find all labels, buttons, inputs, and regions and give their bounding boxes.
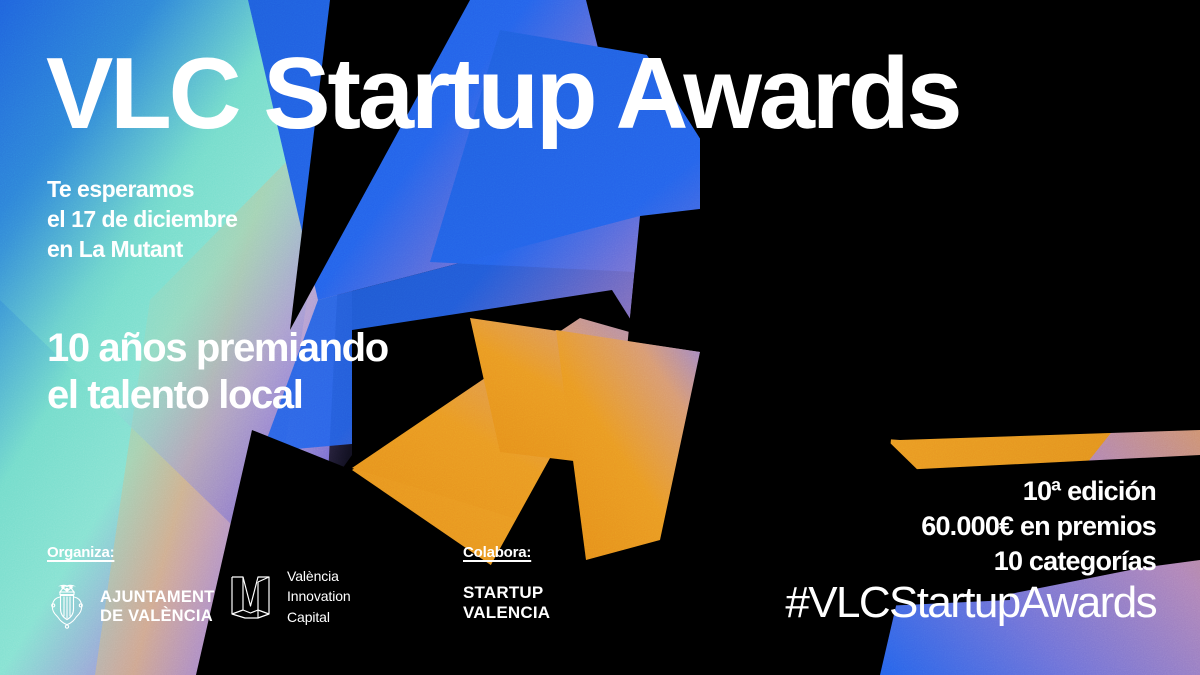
ajuntament-logo-text: AJUNTAMENT DE VALÈNCIA	[100, 588, 214, 627]
colabora-section: Colabora: STARTUP VALENCIA	[463, 544, 550, 623]
organiza-label: Organiza:	[47, 544, 214, 561]
edition-number: 10ª edición	[921, 474, 1156, 509]
poster-content: VLC Startup Awards Te esperamos el 17 de…	[0, 0, 1200, 675]
poster-canvas: VLC Startup Awards Te esperamos el 17 de…	[0, 0, 1200, 675]
hashtag: #VLCStartupAwards	[785, 578, 1156, 628]
page-title: VLC Startup Awards	[46, 44, 959, 145]
startup-valencia-line-1: STARTUP	[463, 583, 550, 603]
vic-line-2: Innovation	[287, 586, 351, 606]
startup-valencia-line-2: VALENCIA	[463, 603, 550, 623]
vic-line-1: València	[287, 566, 351, 586]
tagline: 10 años premiando el talento local	[47, 325, 388, 419]
valencia-city-crest-icon	[47, 583, 87, 631]
vic-v-mark-icon	[228, 570, 274, 622]
event-details: Te esperamos el 17 de diciembre en La Mu…	[47, 175, 237, 265]
vic-line-3: Capital	[287, 607, 351, 627]
prize-amount: 60.000€ en premios	[921, 509, 1156, 544]
event-details-line-3: en La Mutant	[47, 235, 237, 265]
tagline-line-2: el talento local	[47, 372, 388, 419]
ajuntament-line-2: DE VALÈNCIA	[100, 607, 214, 626]
ajuntament-line-1: AJUNTAMENT	[100, 588, 214, 607]
event-details-line-2: el 17 de diciembre	[47, 205, 237, 235]
valencia-innovation-capital-logo: València Innovation Capital	[228, 566, 351, 627]
organiza-section: Organiza:	[47, 544, 214, 631]
category-count: 10 categorías	[921, 544, 1156, 579]
ajuntament-logo: AJUNTAMENT DE VALÈNCIA	[47, 583, 214, 631]
tagline-line-1: 10 años premiando	[47, 325, 388, 372]
edition-facts: 10ª edición 60.000€ en premios 10 catego…	[921, 474, 1156, 579]
startup-valencia-logo: STARTUP VALENCIA	[463, 583, 550, 623]
vic-logo-text: València Innovation Capital	[287, 566, 351, 627]
event-details-line-1: Te esperamos	[47, 175, 237, 205]
colabora-label: Colabora:	[463, 544, 550, 561]
